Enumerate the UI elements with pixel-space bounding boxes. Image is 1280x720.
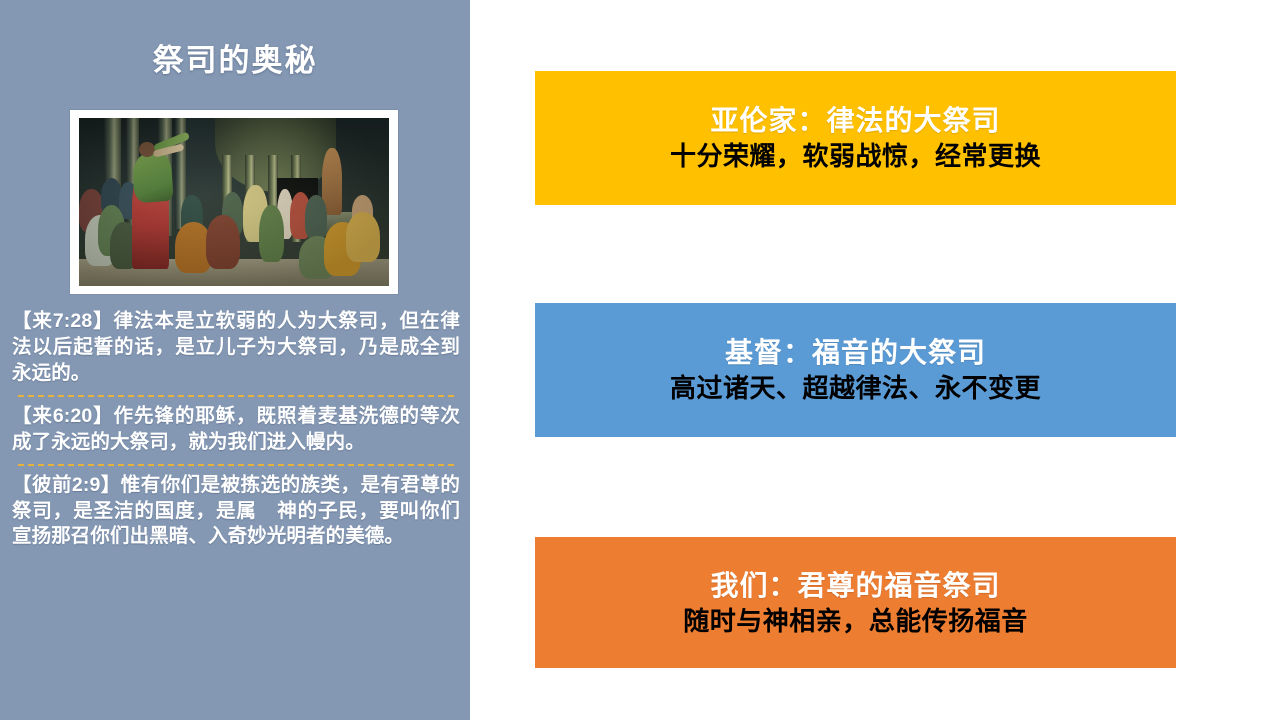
sidebar-panel: 祭司的奥秘 (0, 0, 470, 720)
scripture-verse: 【来7:28】律法本是立软弱的人为大祭司，但在律法以后起誓的话，是立儿子为大祭司… (12, 309, 460, 387)
banner-title: 我们：君尊的福音祭司 (710, 568, 1000, 603)
banner-subtitle: 十分荣耀，软弱战惊，经常更换 (670, 140, 1041, 173)
page-title: 祭司的奥秘 (0, 44, 470, 78)
banner-aaron-house: 亚伦家：律法的大祭司 十分荣耀，软弱战惊，经常更换 (535, 71, 1176, 205)
banner-christ: 基督：福音的大祭司 高过诸天、超越律法、永不变更 (535, 303, 1176, 437)
scripture-verse: 【来6:20】作先锋的耶稣，既照着麦基洗德的等次成了永远的大祭司，就为我们进入幔… (12, 404, 460, 456)
painting-st-paul-preaching-in-athens (79, 118, 389, 286)
scripture-list: 【来7:28】律法本是立软弱的人为大祭司，但在律法以后起誓的话，是立儿子为大祭司… (12, 309, 460, 550)
framed-picture (69, 109, 399, 295)
scripture-verse: 【彼前2:9】惟有你们是被拣选的族类，是有君尊的祭司，是圣洁的国度，是属 神的子… (12, 473, 460, 551)
banner-title: 基督：福音的大祭司 (725, 335, 986, 370)
banner-subtitle: 随时与神相亲，总能传扬福音 (683, 605, 1028, 638)
verse-divider (18, 395, 454, 397)
banner-us: 我们：君尊的福音祭司 随时与神相亲，总能传扬福音 (535, 537, 1176, 668)
verse-divider (18, 464, 454, 466)
banner-title: 亚伦家：律法的大祭司 (710, 103, 1000, 138)
banner-subtitle: 高过诸天、超越律法、永不变更 (670, 372, 1041, 405)
presentation-slide: 祭司的奥秘 (0, 0, 1280, 720)
